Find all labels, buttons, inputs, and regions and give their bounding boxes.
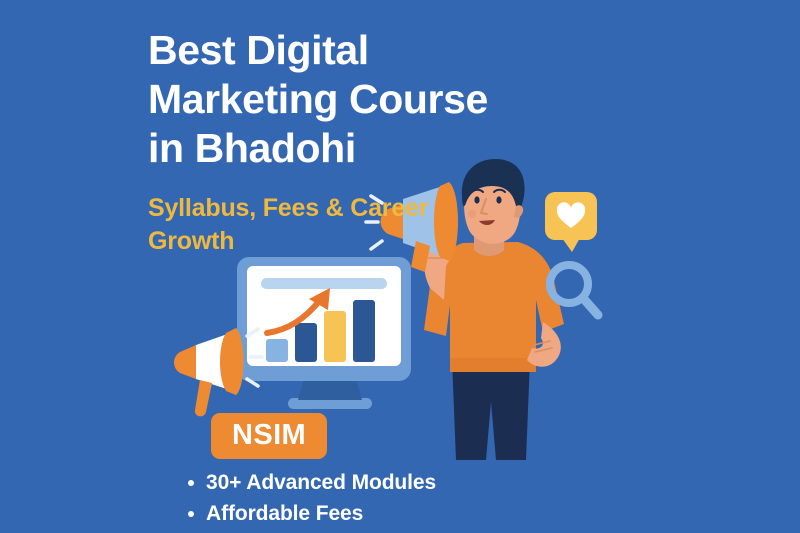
heart-bubble-icon [545, 192, 597, 252]
page-title: Best Digital Marketing Course in Bhadohi [148, 26, 548, 173]
bullet-dot-icon [188, 511, 194, 517]
status-badge: NSIM [211, 413, 327, 459]
chart-bar-3 [324, 311, 346, 362]
list-item: 30+ Advanced Modules [188, 467, 436, 498]
chart-bar-4 [353, 300, 375, 362]
bullet-dot-icon [188, 480, 194, 486]
list-item-label: 30+ Advanced Modules [206, 467, 436, 498]
chart-bar-2 [295, 323, 317, 362]
list-item-label: Affordable Fees [206, 498, 363, 529]
feature-list: 30+ Advanced Modules Affordable Fees [188, 467, 436, 529]
page-subtitle: Syllabus, Fees & Career Growth [148, 192, 448, 258]
chart-bar-1 [266, 339, 288, 362]
marketing-banner: Best Digital Marketing Course in Bhadohi… [0, 0, 800, 533]
list-item: Affordable Fees [188, 498, 436, 529]
monitor-icon [237, 257, 411, 409]
